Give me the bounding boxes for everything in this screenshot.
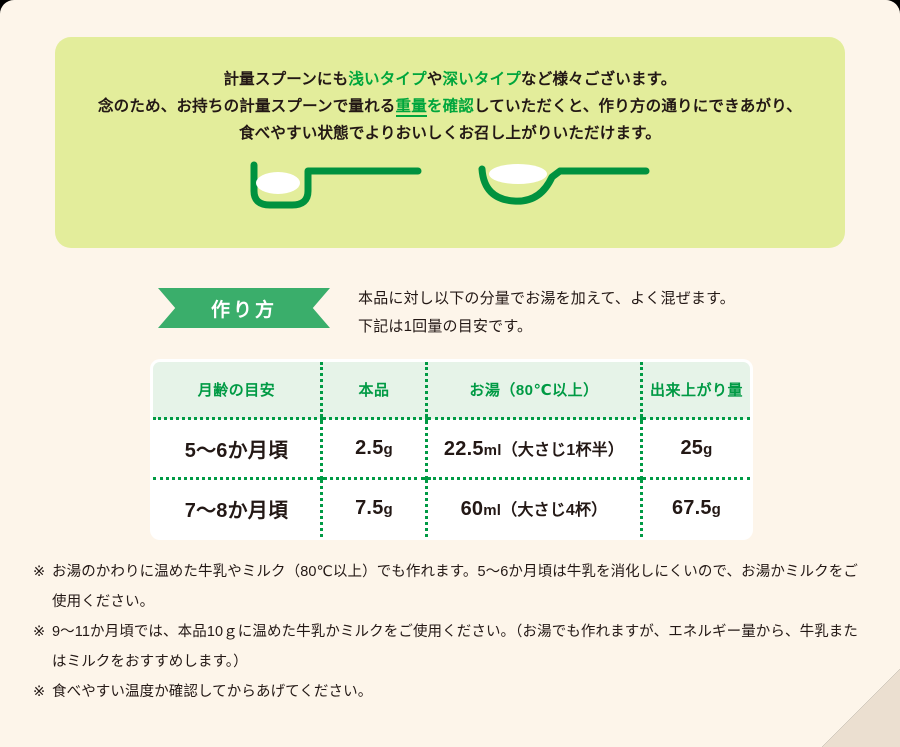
shallow-spoon-icon [246,157,426,220]
dosage-table: 月齢の目安 本品 お湯（80℃以上） 出来上がり量 5〜6か月頃 2.5g 22… [150,359,753,540]
table-header-water: お湯（80℃以上） [427,361,642,419]
footnote-1-text: お湯のかわりに温めた牛乳やミルク（80℃以上）でも作れます。5〜6か月頃は牛乳を… [52,564,858,610]
footnote-3: ※食べやすい温度か確認してからあげてください。 [33,677,863,707]
cell-product: 2.5g [322,419,427,479]
page-corner-fold [822,669,900,747]
cell-water-note: （大さじ4杯） [501,502,607,519]
cell-yield: 25g [642,419,752,479]
table-header-age: 月齢の目安 [152,361,322,419]
cell-water-note: （大さじ1杯半） [502,442,625,459]
howto-instruction-line-1: 本品に対し以下の分量でお湯を加えて、よく混ぜます。 [358,285,735,313]
cell-water-value: 60 [461,498,484,520]
table-header-product: 本品 [322,361,427,419]
footnote-3-text: 食べやすい温度か確認してからあげてください。 [52,684,372,700]
footnote-1: ※お湯のかわりに温めた牛乳やミルク（80℃以上）でも作れます。5〜6か月頃は牛乳… [33,557,863,617]
howto-ribbon-banner: 作り方 [158,288,330,328]
footnote-marker: ※ [33,677,52,707]
notice-line-1: 計量スプーンにも浅いタイプや深いタイプなど様々ございます。 [55,66,845,93]
footnote-2-text: 9〜11か月頃では、本品10ｇに温めた牛乳かミルクをご使用ください。（お湯でも作… [52,624,858,670]
cell-product-unit: g [384,441,393,458]
notice-emphasis-weight: 重量 [396,98,427,117]
notice-line1-part1: 計量スプーンにも [223,71,348,88]
notice-line2-part1: 念のため、お持ちの計量スプーンで量れる [98,98,396,115]
cell-water: 60ml（大さじ4杯） [427,479,642,539]
cell-yield-value: 25 [680,437,703,459]
cell-age: 7〜8か月頃 [152,479,322,539]
table-row: 5〜6か月頃 2.5g 22.5ml（大さじ1杯半） 25g [152,419,752,479]
recipe-page: 計量スプーンにも浅いタイプや深いタイプなど様々ございます。 念のため、お持ちの計… [0,0,900,747]
table-row: 7〜8か月頃 7.5g 60ml（大さじ4杯） 67.5g [152,479,752,539]
cell-yield: 67.5g [642,479,752,539]
cell-yield-unit: g [712,501,721,518]
deep-spoon-icon [474,157,654,220]
notice-emphasis-deep: 深いタイプ [443,71,522,88]
cell-product-value: 7.5 [355,497,383,519]
notice-line-2: 念のため、お持ちの計量スプーンで量れる重量を確認していただくと、作り方の通りにで… [55,93,845,120]
notice-line-3: 食べやすい状態でよりおいしくお召し上がりいただけます。 [55,120,845,147]
cell-water-unit: ml [483,502,501,519]
cell-age: 5〜6か月頃 [152,419,322,479]
spoon-illustrations [55,157,845,220]
footnotes: ※お湯のかわりに温めた牛乳やミルク（80℃以上）でも作れます。5〜6か月頃は牛乳… [33,557,863,707]
notice-emphasis-confirm: を確認 [427,98,474,115]
corner-fold-flap [822,669,900,747]
measuring-spoon-notice-box: 計量スプーンにも浅いタイプや深いタイプなど様々ございます。 念のため、お持ちの計… [55,37,845,248]
cell-product-value: 2.5 [355,437,383,459]
notice-line1-part5: など様々ございます。 [521,71,676,88]
notice-line1-part3: や [427,71,443,88]
footnote-marker: ※ [33,557,52,587]
cell-yield-unit: g [703,441,712,458]
howto-instruction-line-2: 下記は1回量の目安です。 [358,313,735,341]
footnote-marker: ※ [33,617,52,647]
footnote-2: ※9〜11か月頃では、本品10ｇに温めた牛乳かミルクをご使用ください。（お湯でも… [33,617,863,677]
cell-product: 7.5g [322,479,427,539]
cell-yield-value: 67.5 [672,497,712,519]
howto-instructions: 本品に対し以下の分量でお湯を加えて、よく混ぜます。 下記は1回量の目安です。 [358,285,735,341]
notice-text-block: 計量スプーンにも浅いタイプや深いタイプなど様々ございます。 念のため、お持ちの計… [55,66,845,147]
howto-section: 作り方 本品に対し以下の分量でお湯を加えて、よく混ぜます。 下記は1回量の目安で… [0,285,900,341]
cell-water: 22.5ml（大さじ1杯半） [427,419,642,479]
notice-line2-part4: していただくと、作り方の通りにできあがり、 [474,98,802,115]
table-header-row: 月齢の目安 本品 お湯（80℃以上） 出来上がり量 [152,361,752,419]
cell-product-unit: g [384,501,393,518]
notice-emphasis-shallow: 浅いタイプ [348,71,427,88]
cell-water-value: 22.5 [444,438,484,460]
cell-water-unit: ml [484,442,502,459]
table-header-yield: 出来上がり量 [642,361,752,419]
